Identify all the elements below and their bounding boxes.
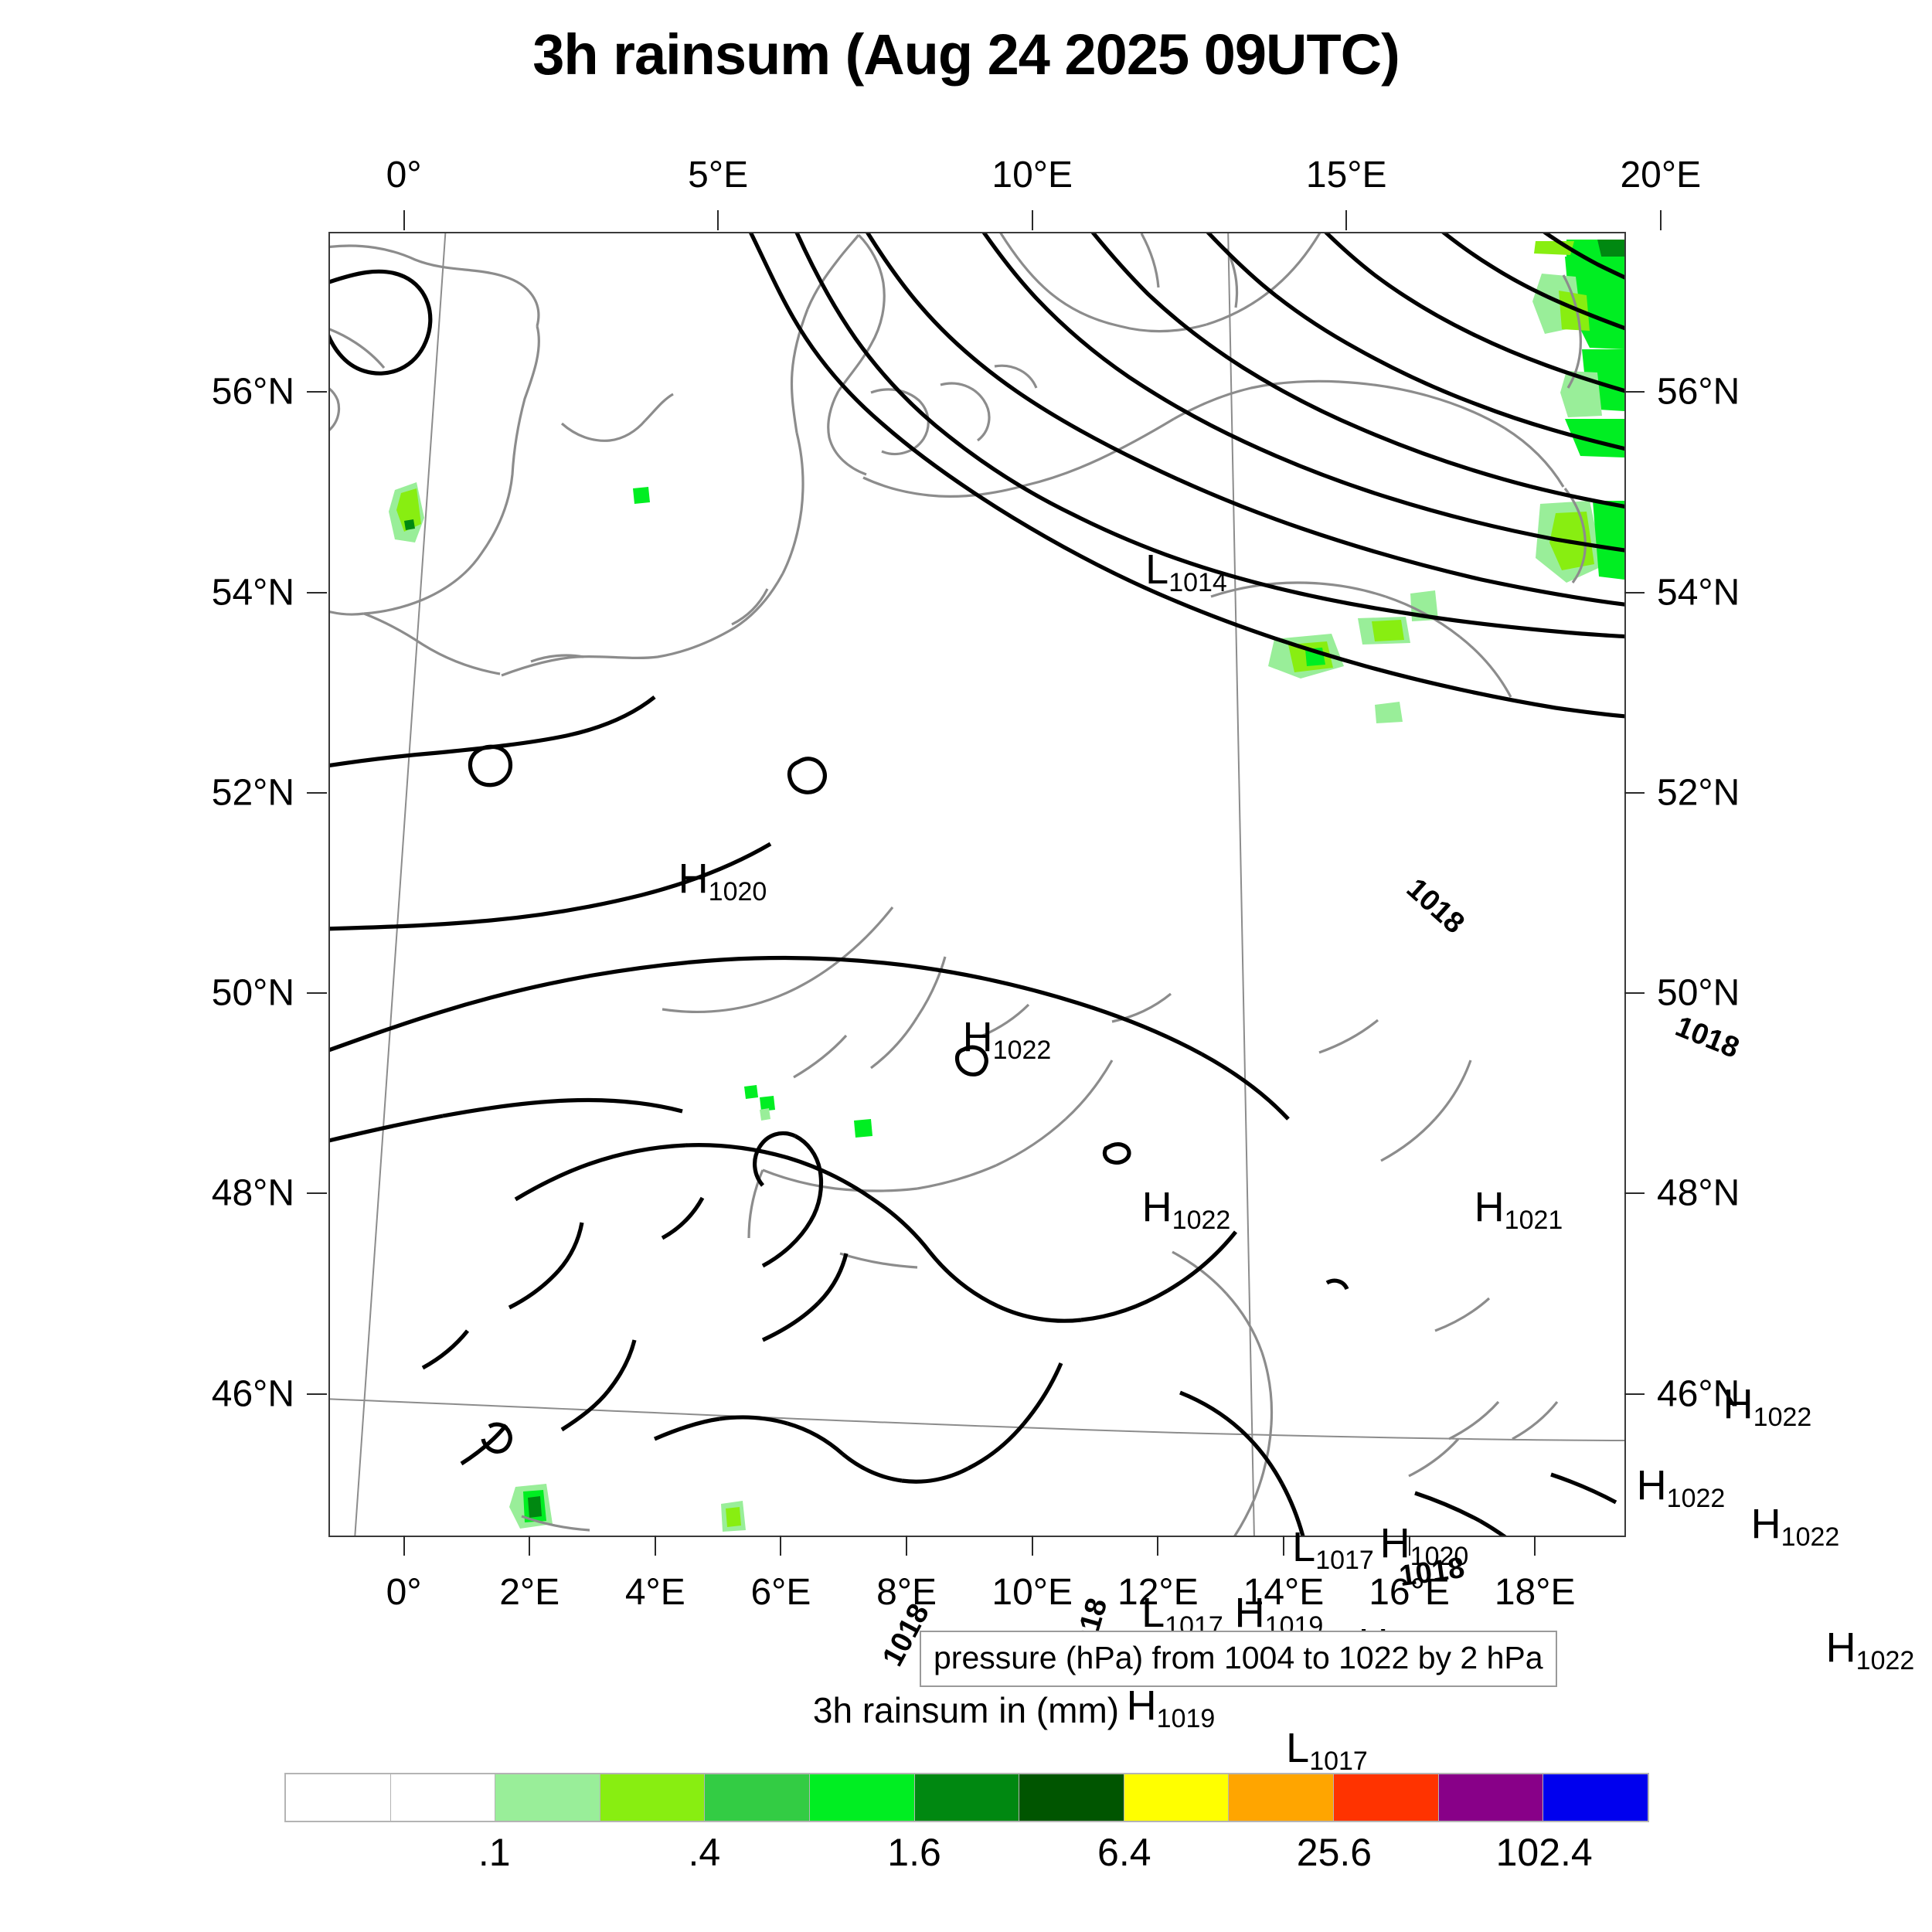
axis-label-right: 48°N [1657, 1172, 1740, 1215]
axis-label-left: 48°N [212, 1172, 294, 1215]
colorbar-cell[interactable] [1124, 1774, 1229, 1821]
coastline-layer [330, 233, 1585, 1536]
pressure-value: 1014 [1168, 568, 1227, 597]
axis-tick-bottom [1157, 1536, 1158, 1556]
colorbar-tick-label: 25.6 [1297, 1830, 1372, 1875]
pressure-symbol: H [963, 1014, 993, 1060]
colorbar-tick-label: 6.4 [1097, 1830, 1151, 1875]
pressure-legend-text: pressure (hPa) from 1004 to 1022 by 2 hP… [934, 1640, 1543, 1675]
colorbar-tick-label: .1 [478, 1830, 511, 1875]
pressure-symbol: H [1235, 1590, 1265, 1636]
axis-tick-left [307, 1192, 327, 1194]
high-pressure-marker: H1020 [679, 855, 767, 907]
pressure-value: 1022 [1172, 1206, 1231, 1235]
axis-label-left: 50°N [212, 972, 294, 1015]
low-pressure-marker: L1014 [1145, 546, 1227, 598]
colorbar-cell[interactable] [1228, 1774, 1333, 1821]
axis-tick-bottom [655, 1536, 656, 1556]
high-pressure-marker: H1022 [1751, 1500, 1840, 1553]
axis-label-bottom: 0° [386, 1571, 422, 1614]
axis-tick-bottom [1032, 1536, 1033, 1556]
axis-label-bottom: 2°E [499, 1571, 560, 1614]
pressure-value: 1022 [1753, 1403, 1812, 1432]
high-pressure-marker: H1022 [1723, 1380, 1812, 1433]
pressure-legend-box: pressure (hPa) from 1004 to 1022 by 2 hP… [920, 1631, 1557, 1687]
colorbar-cell[interactable] [1333, 1774, 1438, 1821]
colorbar-cell[interactable] [286, 1774, 390, 1821]
pressure-symbol: L [1292, 1524, 1315, 1570]
pressure-value: 1021 [1505, 1206, 1563, 1235]
axis-label-right: 50°N [1657, 972, 1740, 1015]
axis-tick-top [403, 210, 405, 230]
axis-tick-right [1624, 1192, 1645, 1194]
axis-label-bottom: 4°E [625, 1571, 685, 1614]
colorbar-cell[interactable] [495, 1774, 600, 1821]
colorbar-cell[interactable] [1543, 1774, 1648, 1821]
high-pressure-marker: H1022 [1142, 1183, 1231, 1236]
axis-tick-left [307, 592, 327, 594]
axis-label-bottom: 6°E [750, 1571, 811, 1614]
axis-tick-top [1660, 210, 1662, 230]
axis-tick-right [1624, 391, 1645, 393]
axis-tick-bottom [1534, 1536, 1536, 1556]
colorbar-tick-label: .4 [689, 1830, 721, 1875]
pressure-symbol: H [1751, 1501, 1781, 1547]
colorbar-tick-labels: .1.41.66.425.6102.4 [284, 1830, 1649, 1884]
pressure-symbol: L [1286, 1725, 1309, 1771]
axis-tick-bottom [906, 1536, 907, 1556]
high-pressure-marker: H1022 [1637, 1461, 1726, 1514]
colorbar-cell[interactable] [914, 1774, 1019, 1821]
pressure-symbol: H [679, 855, 709, 902]
colorbar-cell[interactable] [809, 1774, 914, 1821]
pressure-value: 1017 [1309, 1747, 1368, 1776]
axis-label-left: 54°N [212, 571, 294, 614]
axis-tick-bottom [780, 1536, 781, 1556]
colorbar-cell[interactable] [1438, 1774, 1543, 1821]
axis-tick-right [1624, 792, 1645, 794]
colorbar-cell[interactable] [1019, 1774, 1124, 1821]
axis-tick-top [1345, 210, 1347, 230]
axis-tick-bottom [529, 1536, 530, 1556]
page-title: 3h rainsum (Aug 24 2025 09UTC) [0, 22, 1932, 87]
axis-tick-top [717, 210, 719, 230]
colorbar-tick-label: 1.6 [887, 1830, 941, 1875]
colorbar-cell[interactable] [600, 1774, 705, 1821]
pressure-symbol: L [1141, 1590, 1165, 1636]
high-pressure-marker: H1021 [1475, 1183, 1563, 1236]
colorbar-cell[interactable] [704, 1774, 809, 1821]
axis-tick-left [307, 391, 327, 393]
pressure-value: 1022 [1781, 1522, 1840, 1552]
axis-tick-left [307, 1393, 327, 1395]
axis-tick-bottom [403, 1536, 405, 1556]
pressure-symbol: H [1826, 1624, 1856, 1671]
colorbar-title: 3h rainsum in (mm) [0, 1689, 1932, 1731]
axis-label-top: 0° [386, 154, 422, 196]
pressure-symbol: H [1142, 1184, 1172, 1230]
pressure-value: 1020 [709, 877, 767, 906]
axis-label-top: 15°E [1306, 154, 1387, 196]
axis-tick-left [307, 792, 327, 794]
axis-tick-right [1624, 592, 1645, 594]
low-pressure-marker: L1017 [1286, 1724, 1368, 1777]
axis-tick-bottom [1283, 1536, 1284, 1556]
axis-label-bottom: 18°E [1495, 1571, 1576, 1614]
axis-label-right: 52°N [1657, 771, 1740, 814]
low-pressure-marker: L1017 [1292, 1523, 1374, 1576]
colorbar-cell[interactable] [390, 1774, 495, 1821]
axis-label-right: 54°N [1657, 571, 1740, 614]
axis-tick-right [1624, 1393, 1645, 1395]
axis-label-top: 10°E [992, 154, 1073, 196]
axis-label-bottom: 10°E [992, 1571, 1073, 1614]
weather-map-figure: 3h rainsum (Aug 24 2025 09UTC) [0, 0, 1932, 1932]
axis-label-left: 52°N [212, 771, 294, 814]
pressure-symbol: H [1637, 1462, 1667, 1509]
colorbar[interactable] [284, 1773, 1649, 1822]
axis-label-right: 56°N [1657, 371, 1740, 413]
pressure-value: 1022 [1856, 1646, 1915, 1675]
contour-label: 1018 [1671, 1010, 1743, 1066]
axis-label-top: 5°E [688, 154, 748, 196]
high-pressure-marker: H1022 [963, 1013, 1052, 1066]
pressure-value: 1022 [1667, 1484, 1726, 1513]
pressure-value: 1022 [993, 1036, 1052, 1065]
axis-tick-top [1032, 210, 1033, 230]
colorbar-tick-label: 102.4 [1496, 1830, 1593, 1875]
axis-label-top: 20°E [1620, 154, 1701, 196]
axis-label-left: 46°N [212, 1372, 294, 1415]
pressure-value: 1017 [1315, 1546, 1374, 1575]
axis-tick-right [1624, 992, 1645, 994]
pressure-symbol: L [1145, 546, 1168, 593]
axis-label-left: 56°N [212, 371, 294, 413]
pressure-symbol: H [1475, 1184, 1505, 1230]
axis-tick-left [307, 992, 327, 994]
high-pressure-marker: H1022 [1826, 1624, 1915, 1676]
pressure-symbol: H [1723, 1381, 1753, 1427]
